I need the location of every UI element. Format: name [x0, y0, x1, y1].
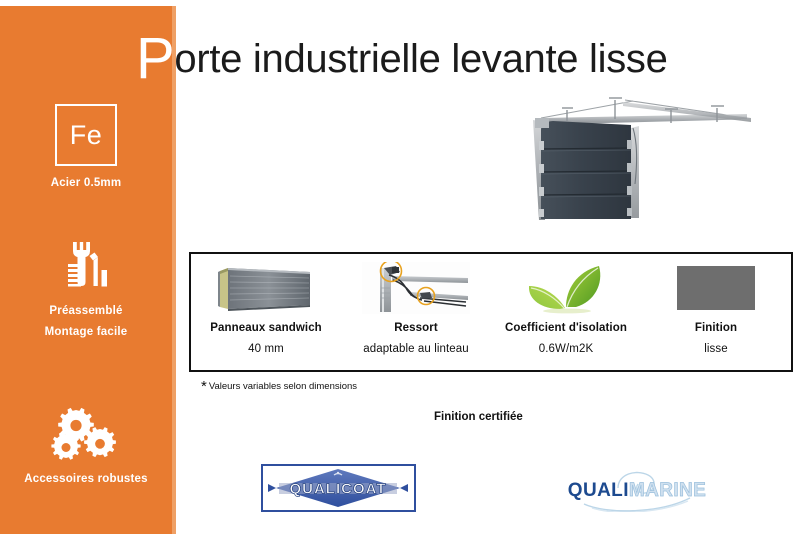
feature-spring: Ressort adaptable au linteau: [341, 254, 491, 370]
sidebar-item-assembly: Préassemblé Montage facile: [0, 236, 172, 341]
sidebar-item-accessories: Accessoires robustes: [0, 404, 172, 488]
wrench-icon: [0, 236, 172, 294]
leaf-icon: [520, 260, 612, 316]
sidebar-item-assembly-label-1: Préassemblé: [0, 303, 172, 320]
qualimarine-text-secondary: MARINE: [629, 480, 706, 501]
qualimarine-text-primary: QUALI: [568, 480, 629, 501]
sandwich-panel-image: [214, 260, 318, 316]
footnote-marker: *: [201, 378, 207, 395]
qualimarine-wordmark: QUALIMARINE: [562, 480, 712, 502]
page-title: Porte industrielle levante lisse: [136, 24, 668, 82]
gears-icon: [0, 404, 172, 462]
spring-mechanism-image: [362, 260, 470, 316]
footnote-text: Valeurs variables selon dimensions: [209, 381, 357, 392]
sidebar-item-assembly-label-2: Montage facile: [0, 324, 172, 341]
feature-finish-value: lisse: [704, 343, 728, 355]
feature-finish: Finition lisse: [641, 254, 791, 370]
certification-heading: Finition certifiée: [434, 411, 523, 423]
title-initial: P: [136, 26, 174, 91]
feature-panels-value: 40 mm: [248, 343, 284, 355]
feature-insulation-title: Coefficient d'isolation: [505, 322, 627, 334]
fe-box-icon: Fe: [55, 104, 117, 166]
feature-finish-title: Finition: [695, 322, 737, 334]
sidebar-item-material-label: Acier 0.5mm: [0, 175, 172, 192]
feature-spring-value: adaptable au linteau: [363, 343, 469, 355]
title-rest: orte industrielle levante lisse: [174, 37, 667, 81]
feature-insulation: Coefficient d'isolation 0.6W/m2K: [491, 254, 641, 370]
feature-spring-title: Ressort: [394, 322, 438, 334]
qualimarine-logo: QUALIMARINE: [562, 468, 712, 512]
feature-panels-title: Panneaux sandwich: [210, 322, 322, 334]
feature-panels: Panneaux sandwich 40 mm: [191, 254, 341, 370]
fe-symbol: Fe: [70, 120, 103, 151]
industrial-sectional-door-image: [505, 88, 785, 228]
qualicoat-logo: QUALICOAT: [261, 464, 416, 512]
footnote: *Valeurs variables selon dimensions: [203, 381, 357, 398]
sidebar-item-material: Fe Acier 0.5mm: [0, 104, 172, 192]
slide-root: Fe Acier 0.5mm Préassemblé Monta: [0, 0, 800, 534]
feature-insulation-value: 0.6W/m2K: [539, 343, 593, 355]
svg-text:QUALICOAT: QUALICOAT: [289, 481, 386, 498]
feature-box: Panneaux sandwich 40 mm: [189, 252, 793, 372]
finish-color-swatch: [677, 266, 755, 310]
sidebar-item-accessories-label: Accessoires robustes: [0, 471, 172, 488]
color-swatch: [677, 260, 755, 316]
